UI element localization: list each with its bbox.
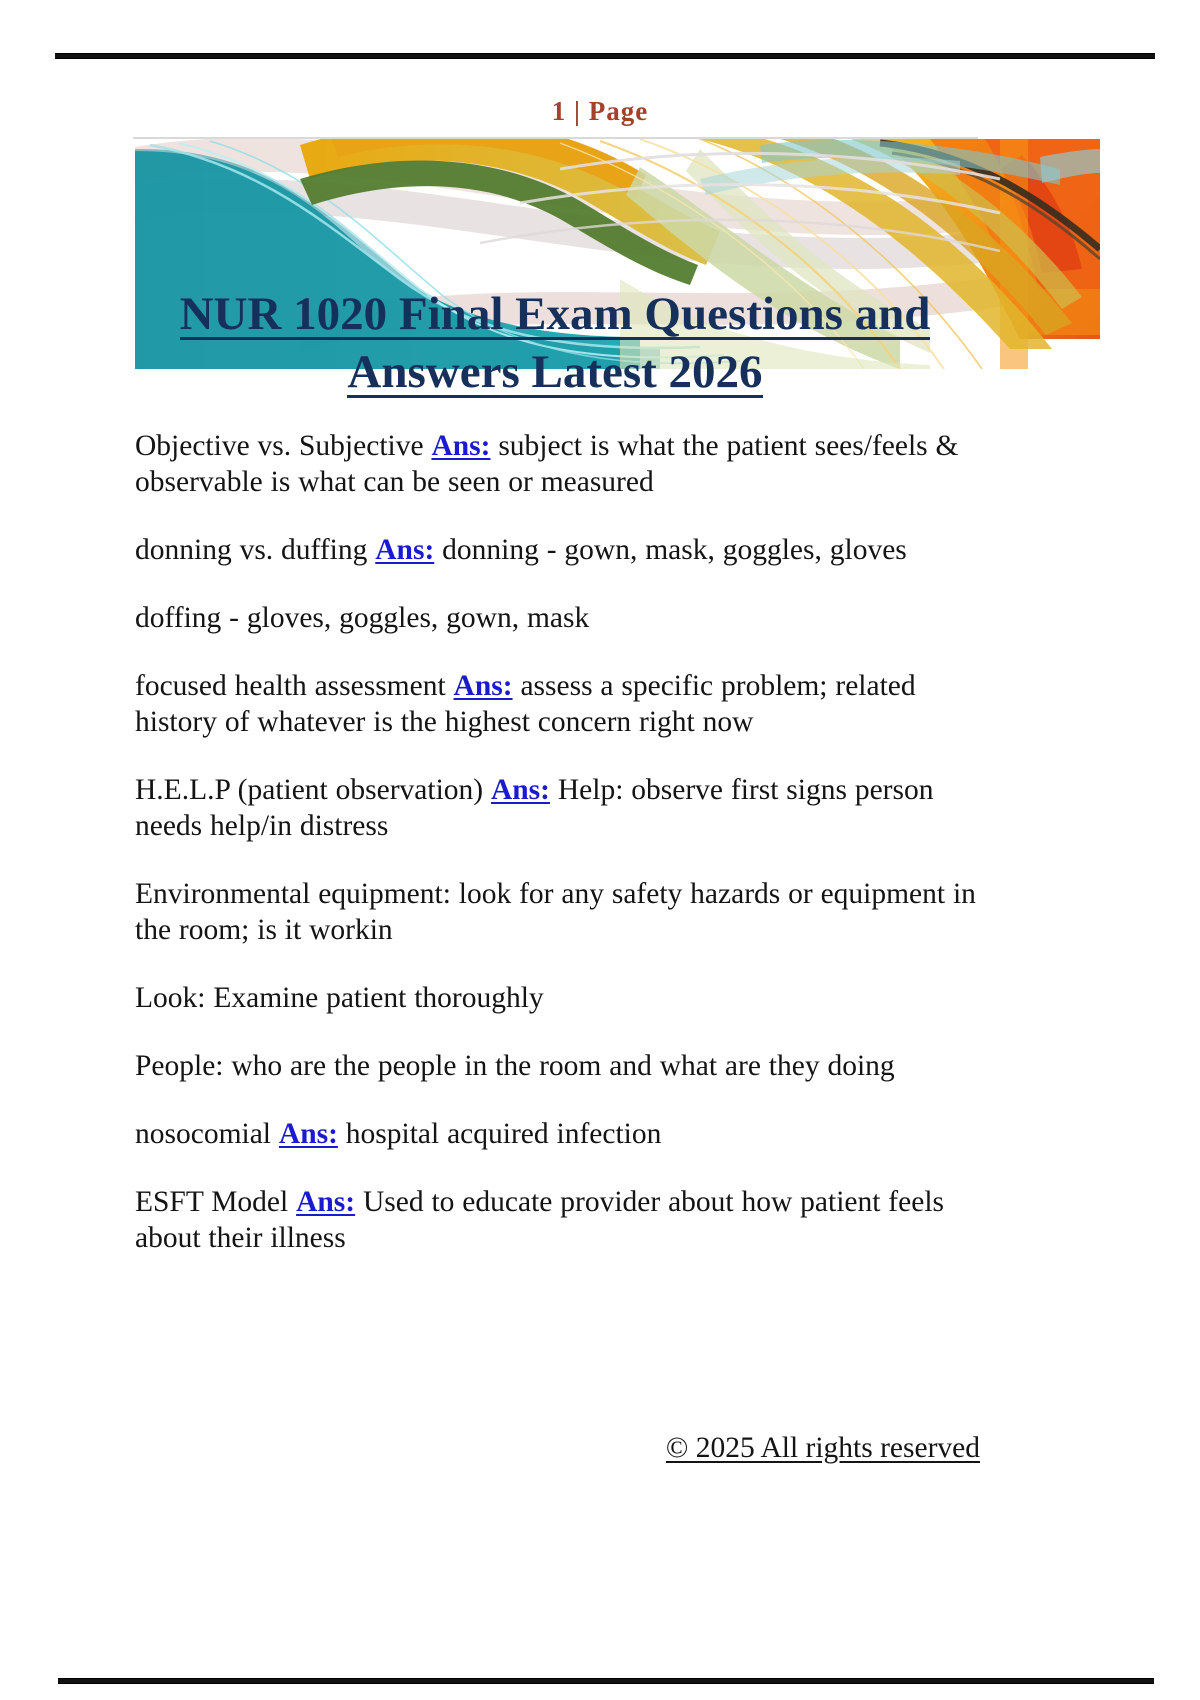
page-top-rule (55, 53, 1155, 59)
qa-paragraph: H.E.L.P (patient observation) Ans: Help:… (135, 772, 980, 844)
page-number-header: 1 | Page (0, 96, 1200, 127)
ans-marker: Ans: (431, 430, 490, 462)
ans-marker: Ans: (375, 534, 434, 566)
page-bottom-rule (58, 1678, 1154, 1684)
ans-marker: Ans: (454, 670, 513, 702)
qa-paragraph: nosocomial Ans: hospital acquired infect… (135, 1116, 980, 1152)
qa-prompt: focused health assessment (135, 670, 454, 702)
qa-paragraph: People: who are the people in the room a… (135, 1048, 980, 1084)
document-title: NUR 1020 Final Exam Questions and Answer… (135, 285, 975, 401)
qa-paragraph: Objective vs. Subjective Ans: subject is… (135, 428, 980, 500)
ans-marker: Ans: (279, 1118, 338, 1150)
qa-prompt: Environmental equipment: look for any sa… (135, 878, 976, 946)
qa-paragraph: donning vs. duffing Ans: donning - gown,… (135, 532, 980, 568)
qa-paragraph: focused health assessment Ans: assess a … (135, 668, 980, 740)
qa-prompt: Look: Examine patient thoroughly (135, 982, 544, 1014)
copyright-label: © 2025 All rights reserved (666, 1432, 980, 1464)
qa-paragraph: doffing - gloves, goggles, gown, mask (135, 600, 980, 636)
document-title-line-1: NUR 1020 Final Exam Questions and (180, 288, 931, 342)
qa-prompt: nosocomial (135, 1118, 279, 1150)
document-page: 1 | Page (0, 0, 1200, 1700)
qa-paragraph: Environmental equipment: look for any sa… (135, 876, 980, 948)
qa-prompt: H.E.L.P (patient observation) (135, 774, 491, 806)
qa-answer: donning - gown, mask, goggles, gloves (442, 534, 907, 566)
document-body: Objective vs. Subjective Ans: subject is… (135, 428, 980, 1288)
page-footer: © 2025 All rights reserved (135, 1432, 980, 1465)
qa-paragraph: Look: Examine patient thoroughly (135, 980, 980, 1016)
document-title-line-2: Answers Latest 2026 (347, 346, 762, 400)
qa-prompt: People: who are the people in the room a… (135, 1050, 895, 1082)
qa-prompt: donning vs. duffing (135, 534, 375, 566)
page-number-label: 1 | Page (552, 96, 648, 126)
qa-prompt: ESFT Model (135, 1186, 296, 1218)
qa-prompt: doffing - gloves, goggles, gown, mask (135, 602, 589, 634)
ans-marker: Ans: (296, 1186, 355, 1218)
qa-paragraph: ESFT Model Ans: Used to educate provider… (135, 1184, 980, 1256)
qa-prompt: Objective vs. Subjective (135, 430, 431, 462)
qa-answer: hospital acquired infection (346, 1118, 662, 1150)
ans-marker: Ans: (491, 774, 550, 806)
